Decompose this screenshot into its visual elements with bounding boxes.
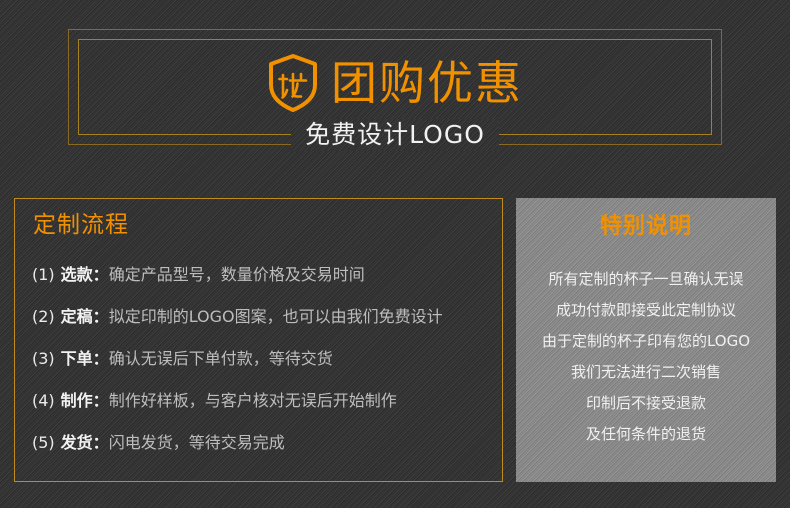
header-subtitle: 免费设计LOGO	[291, 119, 499, 151]
process-panel: 定制流程 (1) 选款： 确定产品型号，数量价格及交易时间 (2) 定稿： 拟定…	[14, 198, 503, 482]
step-desc: 制作好样板，与客户核对无误后开始制作	[109, 387, 397, 411]
step-desc: 确认无误后下单付款，等待交货	[109, 345, 333, 369]
step-label: 制作：	[61, 387, 109, 411]
notice-title: 特别说明	[516, 216, 776, 238]
process-step-list: (1) 选款： 确定产品型号，数量价格及交易时间 (2) 定稿： 拟定印制的LO…	[32, 261, 494, 471]
notice-line: 所有定制的杯子一旦确认无误	[516, 264, 776, 295]
process-step: (1) 选款： 确定产品型号，数量价格及交易时间	[32, 261, 494, 303]
notice-panel: 特别说明 所有定制的杯子一旦确认无误 成功付款即接受此定制协议 由于定制的杯子印…	[516, 198, 776, 482]
step-index: (5)	[32, 433, 55, 452]
step-desc: 确定产品型号，数量价格及交易时间	[109, 261, 365, 285]
notice-line: 由于定制的杯子印有您的LOGO	[516, 326, 776, 357]
notice-line: 及任何条件的退货	[516, 419, 776, 450]
notice-line-list: 所有定制的杯子一旦确认无误 成功付款即接受此定制协议 由于定制的杯子印有您的LO…	[516, 264, 776, 450]
header-title: 团购优惠	[331, 60, 523, 106]
step-label: 发货：	[61, 429, 109, 453]
header-subtitle-wrap: 免费设计LOGO	[68, 119, 722, 151]
shield-you-icon	[267, 53, 319, 113]
step-index: (4)	[32, 391, 55, 410]
process-title: 定制流程	[33, 214, 129, 237]
notice-line: 我们无法进行二次销售	[516, 357, 776, 388]
notice-line: 印制后不接受退款	[516, 388, 776, 419]
process-step: (5) 发货： 闪电发货，等待交易完成	[32, 429, 494, 471]
step-index: (1)	[32, 265, 55, 284]
step-index: (2)	[32, 307, 55, 326]
step-label: 定稿：	[61, 303, 109, 327]
step-desc: 拟定印制的LOGO图案，也可以由我们免费设计	[109, 303, 443, 327]
process-step: (3) 下单： 确认无误后下单付款，等待交货	[32, 345, 494, 387]
header-banner: 团购优惠 免费设计LOGO	[68, 29, 722, 145]
notice-line: 成功付款即接受此定制协议	[516, 295, 776, 326]
promo-banner-page: 团购优惠 免费设计LOGO 定制流程 (1) 选款： 确定产品型号，数量价格及交…	[0, 0, 790, 508]
process-step: (2) 定稿： 拟定印制的LOGO图案，也可以由我们免费设计	[32, 303, 494, 345]
step-index: (3)	[32, 349, 55, 368]
step-label: 选款：	[61, 261, 109, 285]
step-label: 下单：	[61, 345, 109, 369]
header-logo-row: 团购优惠	[68, 47, 722, 119]
step-desc: 闪电发货，等待交易完成	[109, 429, 285, 453]
process-step: (4) 制作： 制作好样板，与客户核对无误后开始制作	[32, 387, 494, 429]
